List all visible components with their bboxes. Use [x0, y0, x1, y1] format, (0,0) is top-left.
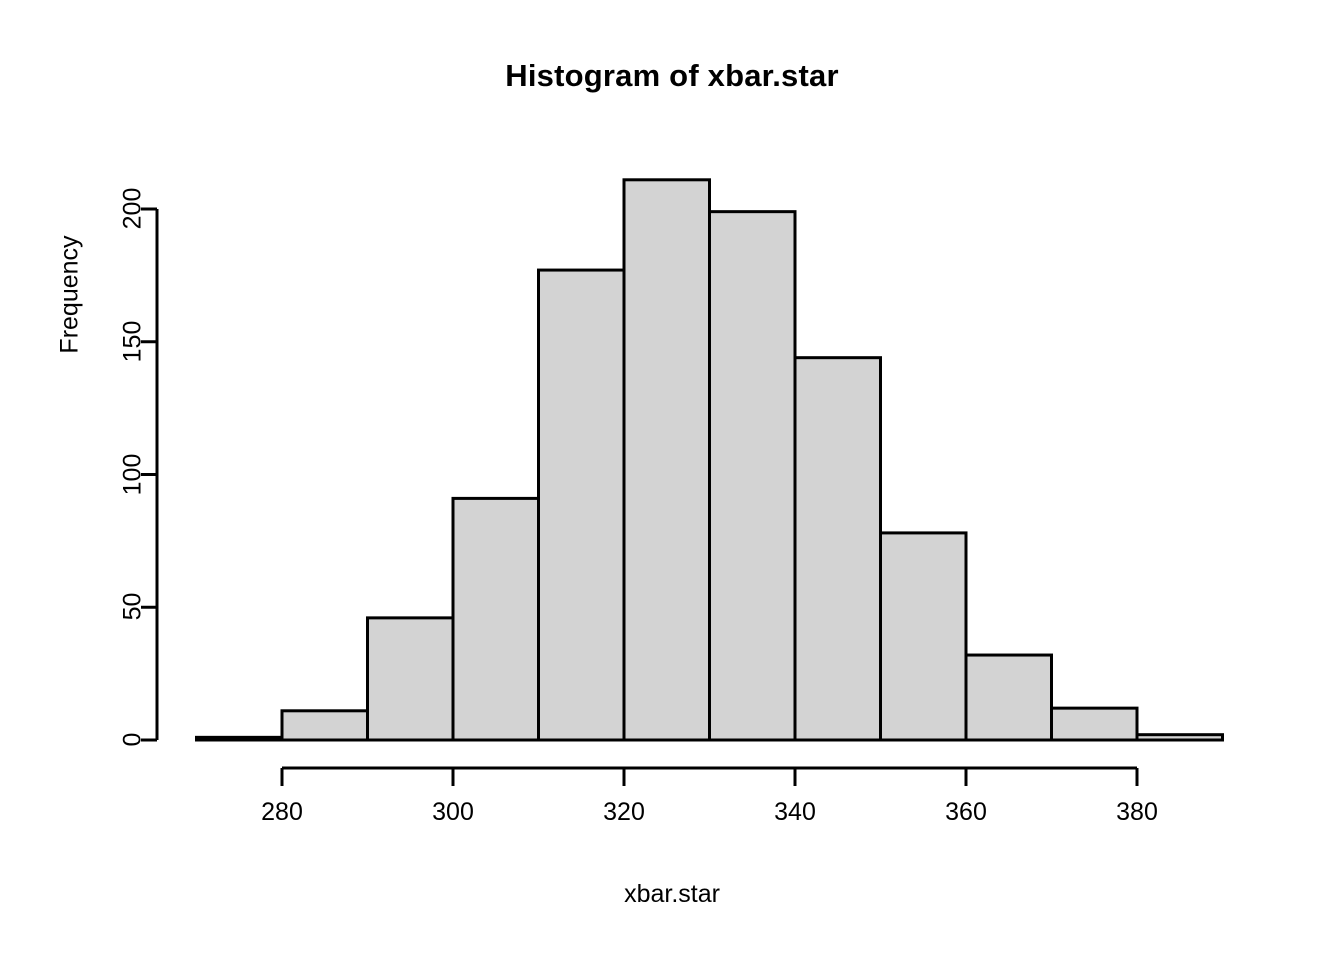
- y-tick-label: 200: [119, 169, 148, 249]
- histogram-bar: [624, 180, 710, 740]
- histogram-bar: [710, 212, 796, 740]
- histogram-bar: [966, 655, 1052, 740]
- histogram-bar: [881, 533, 967, 740]
- histogram-plot: Histogram of xbar.star Frequency xbar.st…: [0, 0, 1344, 960]
- histogram-bar: [368, 618, 454, 740]
- y-tick-label: 50: [119, 567, 148, 647]
- x-tick-label: 300: [393, 798, 513, 827]
- histogram-bar: [282, 711, 368, 740]
- x-tick-label: 340: [735, 798, 855, 827]
- histogram-bar: [795, 358, 881, 740]
- histogram-bar: [1137, 735, 1223, 740]
- x-tick-label: 380: [1077, 798, 1197, 827]
- histogram-bar: [197, 737, 283, 740]
- histogram-bar: [1052, 708, 1138, 740]
- y-tick-label: 100: [119, 434, 148, 514]
- histogram-bars: [197, 180, 1223, 740]
- histogram-bar: [453, 498, 539, 740]
- histogram-bar: [539, 270, 625, 740]
- x-tick-label: 360: [906, 798, 1026, 827]
- x-tick-label: 320: [564, 798, 684, 827]
- y-tick-label: 150: [119, 301, 148, 381]
- y-tick-label: 0: [119, 700, 148, 780]
- x-tick-label: 280: [222, 798, 342, 827]
